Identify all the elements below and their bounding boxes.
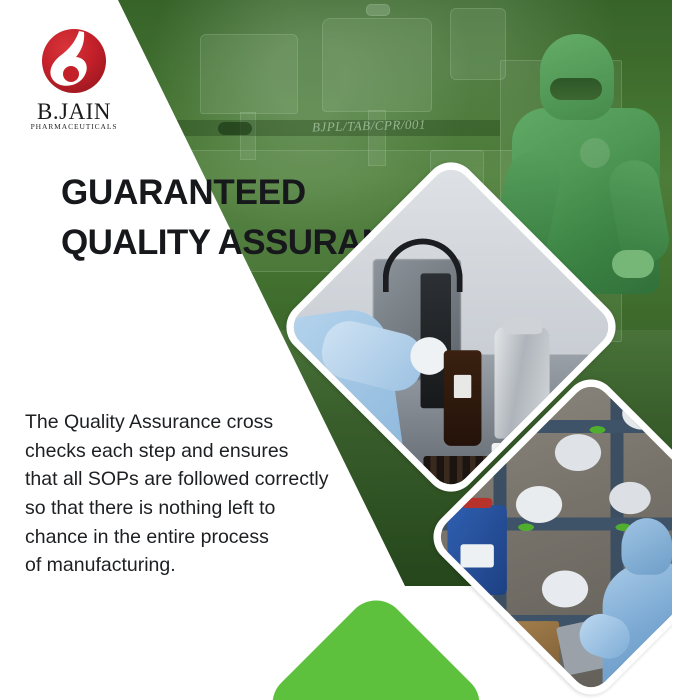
brand-name: B.JAIN [20,100,128,123]
brand-tagline: PHARMACEUTICALS [20,123,128,131]
body-line-3: that all SOPs are followed correctly [25,465,377,494]
body-copy: The Quality Assurance cross checks each … [25,408,377,580]
cardboard-carton [487,621,558,679]
green-chevron-accent [262,590,492,700]
body-line-2: checks each step and ensures [25,437,377,466]
worker-hood [622,517,673,574]
quality-assurance-poster: BJPL/TAB/CPR/001 [0,0,690,700]
body-line-4: so that there is nothing left to [25,494,377,523]
right-white-margin [672,0,690,700]
headline-line-1: GUARANTEED [61,168,391,218]
body-line-6: of manufacturing. [25,551,377,580]
body-line-5: chance in the entire process [25,523,377,552]
amber-reagent-bottle [444,351,481,446]
green-chevron-shape [262,590,492,700]
page-title: GUARANTEED QUALITY ASSURANCE [61,168,391,267]
body-line-1: The Quality Assurance cross [25,408,377,437]
lab-technician-glove [410,337,447,374]
brand-logo: B.JAIN PHARMACEUTICALS [20,28,128,138]
bjain-swoosh-logo-icon [38,28,110,100]
